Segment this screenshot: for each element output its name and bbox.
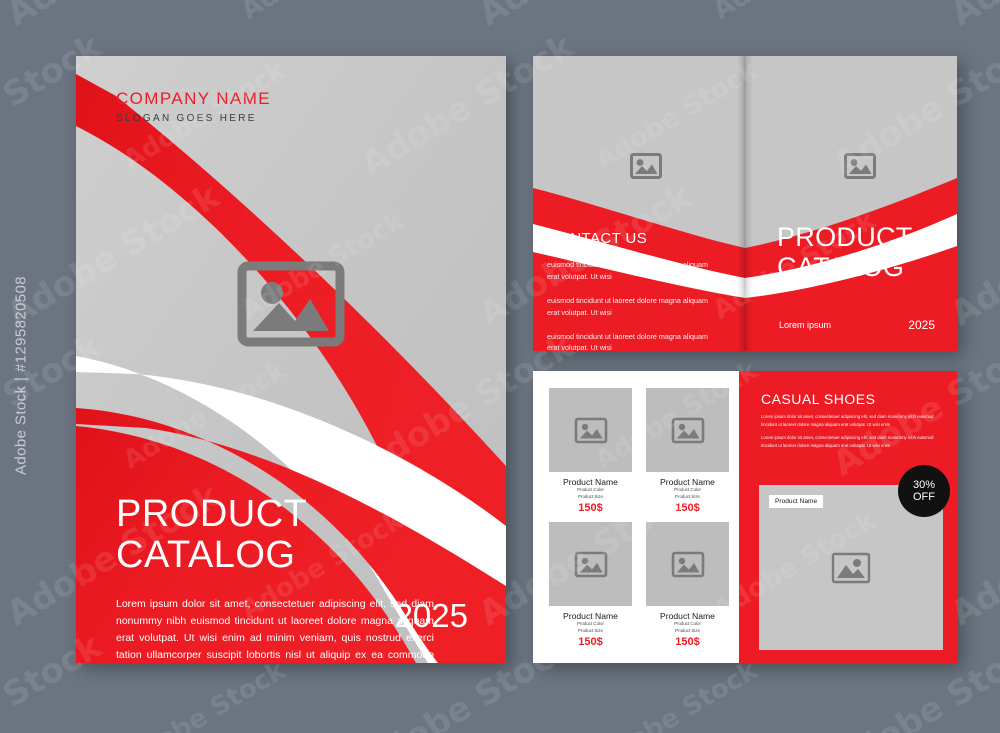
adobe-stock-watermark: Adobe Stock (0, 0, 226, 34)
promo-paragraph: Lorem ipsum dolor sit amet, consectetuer… (761, 434, 941, 449)
product-color: Product Color (549, 621, 632, 628)
adobe-stock-watermark: Adobe Stock (708, 0, 881, 26)
discount-badge: 30% OFF (898, 465, 950, 517)
image-placeholder-icon (237, 261, 345, 347)
product-size: Product Size (549, 628, 632, 635)
grid-red-edge (739, 371, 745, 663)
product-card[interactable]: Product Name Product Color Product Size … (549, 388, 632, 514)
product-color: Product Color (646, 621, 729, 628)
product-size: Product Size (549, 494, 632, 501)
promo-title: CASUAL SHOES (761, 391, 875, 407)
product-grid-page: Product Name Product Color Product Size … (533, 371, 745, 663)
product-card[interactable]: Product Name Product Color Product Size … (549, 522, 632, 648)
cover-year: 2025 (395, 597, 468, 635)
discount-label: OFF (913, 491, 935, 503)
spread-year: 2025 (908, 318, 935, 332)
product-info: Product Name Product Color Product Size … (549, 606, 632, 648)
company-slogan: SLOGAN GOES HERE (116, 113, 271, 124)
image-placeholder-icon (831, 552, 871, 584)
adobe-stock-watermark: Adobe Stock (472, 0, 698, 34)
product-size: Product Size (646, 628, 729, 635)
contact-us-block: CONTACT US euismod tincidunt ut laoreet … (547, 230, 727, 351)
product-price: 150$ (549, 636, 632, 648)
contact-paragraph: euismod tincidunt ut laoreet dolore magn… (547, 259, 712, 283)
catalog-spread-page: Product Name Product Color Product Size … (533, 371, 957, 663)
product-info: Product Name Product Color Product Size … (549, 472, 632, 514)
product-thumbnail (646, 388, 729, 472)
cover-paragraph: Lorem ipsum dolor sit amet, consectetuer… (116, 596, 434, 663)
image-placeholder-icon (671, 417, 705, 444)
contact-us-title: CONTACT US (547, 230, 727, 247)
product-name: Product Name (549, 477, 632, 487)
product-card[interactable]: Product Name Product Color Product Size … (646, 522, 729, 648)
image-placeholder-icon (671, 551, 705, 578)
spread-lorem-label: Lorem ipsum (779, 320, 831, 330)
company-name: COMPANY NAME (116, 89, 271, 109)
adobe-stock-watermark: Adobe Stock (590, 655, 763, 733)
product-grid: Product Name Product Color Product Size … (549, 388, 729, 648)
product-card[interactable]: Product Name Product Color Product Size … (646, 388, 729, 514)
product-info: Product Name Product Color Product Size … (646, 606, 729, 648)
inside-spread-page: CONTACT US euismod tincidunt ut laoreet … (533, 56, 957, 351)
product-info: Product Name Product Color Product Size … (646, 472, 729, 514)
spread-title: PRODUCT CATALOG (777, 222, 913, 282)
product-thumbnail (549, 388, 632, 472)
spread-right-waves (745, 56, 957, 351)
contact-paragraph: euismod tincidunt ut laoreet dolore magn… (547, 331, 712, 352)
adobe-stock-watermark: Adobe Stock (236, 0, 409, 26)
product-price: 150$ (549, 502, 632, 514)
discount-percent: 30% (913, 479, 935, 491)
product-price: 150$ (646, 636, 729, 648)
product-price: 150$ (646, 502, 729, 514)
product-thumbnail (646, 522, 729, 606)
product-name: Product Name (549, 611, 632, 621)
product-color: Product Color (549, 487, 632, 494)
image-placeholder-icon (574, 417, 608, 444)
image-placeholder-icon (574, 551, 608, 578)
image-placeholder-icon (629, 152, 663, 180)
cover-page: COMPANY NAME SLOGAN GOES HERE PRODUCT CA… (76, 56, 506, 663)
cover-body: PRODUCT CATALOG Lorem ipsum dolor sit am… (116, 494, 446, 663)
cover-header: COMPANY NAME SLOGAN GOES HERE (116, 89, 271, 124)
contact-paragraph: euismod tincidunt ut laoreet dolore magn… (547, 295, 712, 319)
image-placeholder-icon (843, 152, 877, 180)
product-size: Product Size (646, 494, 729, 501)
spread-right-page (745, 56, 957, 351)
product-name: Product Name (646, 477, 729, 487)
product-thumbnail (549, 522, 632, 606)
adobe-stock-watermark: Adobe Stock (944, 0, 1000, 34)
page-title: PRODUCT CATALOG (116, 494, 446, 576)
product-color: Product Color (646, 487, 729, 494)
promo-paragraph: Lorem ipsum dolor sit amet, consectetuer… (761, 413, 941, 428)
product-name: Product Name (646, 611, 729, 621)
adobe-stock-watermark: Adobe Stock (118, 655, 291, 733)
promo-image-tag: Product Name (769, 495, 823, 508)
stock-id-label: Adobe Stock | #1295820508 (13, 245, 30, 505)
promo-page: CASUAL SHOES Lorem ipsum dolor sit amet,… (745, 371, 957, 663)
